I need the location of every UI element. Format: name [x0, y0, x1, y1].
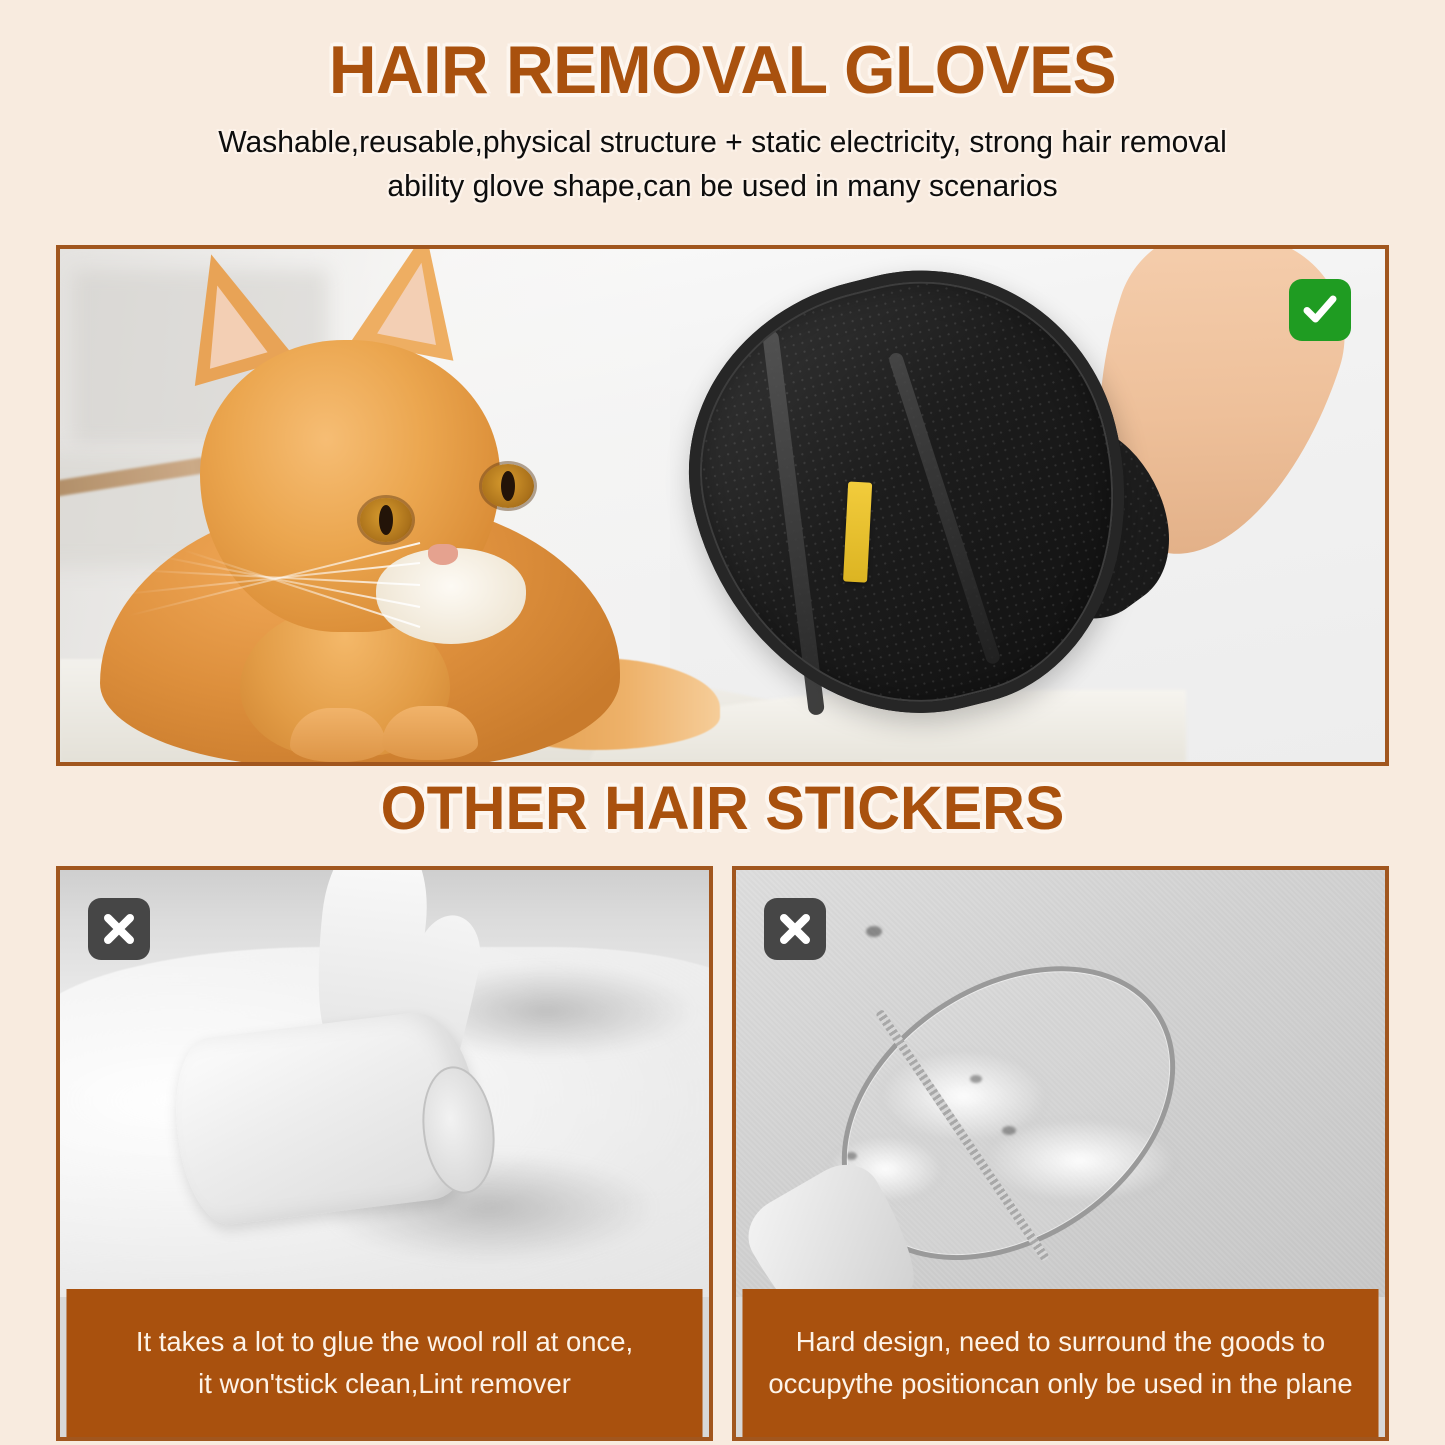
cat-paw-right: [382, 706, 478, 760]
hero-product-panel: [56, 245, 1389, 766]
cross-badge-right: [764, 898, 826, 960]
cross-icon: [776, 910, 814, 948]
glove-rim: [649, 245, 1173, 759]
cat-pupil-left: [379, 505, 393, 535]
cat-paw-left: [290, 708, 386, 762]
cross-badge-left: [88, 898, 150, 960]
check-icon: [1300, 290, 1340, 330]
panel-caption-left: It takes a lot to glue the wool roll at …: [66, 1289, 702, 1437]
cross-icon: [100, 910, 138, 948]
caption-line-2: occupythe positioncan only be used in th…: [768, 1363, 1352, 1405]
panel-caption-right: Hard design, need to surround the goods …: [742, 1289, 1378, 1437]
hero-photo: [60, 249, 1385, 762]
cat-nose: [428, 544, 458, 565]
cat-head: [200, 340, 500, 632]
cat-illustration: [90, 292, 710, 762]
cat-pupil-right: [501, 471, 515, 501]
subtitle-line-1: Washable,reusable,physical structure + s…: [128, 120, 1316, 164]
cat-eye-left: [360, 498, 412, 542]
fabric-shaver-scene: [736, 870, 1385, 1297]
section-title: OTHER HAIR STICKERS: [22, 778, 1424, 839]
infographic-page: HAIR REMOVAL GLOVES Washable,reusable,ph…: [0, 0, 1445, 1445]
lint-roller-photo: [60, 870, 709, 1297]
header: HAIR REMOVAL GLOVES Washable,reusable,ph…: [0, 0, 1445, 208]
comparison-panel-fabric-shaver: Hard design, need to surround the goods …: [732, 866, 1389, 1441]
debris-dot-1: [866, 926, 882, 937]
comparison-panel-lint-roller: It takes a lot to glue the wool roll at …: [56, 866, 713, 1441]
page-subtitle: Washable,reusable,physical structure + s…: [22, 120, 1424, 208]
cat-eye-right: [482, 464, 534, 508]
hair-removal-glove: [649, 245, 1173, 759]
page-title: HAIR REMOVAL GLOVES: [22, 36, 1424, 104]
caption-line-1: It takes a lot to glue the wool roll at …: [136, 1321, 633, 1363]
subtitle-line-2: ability glove shape,can be used in many …: [128, 164, 1316, 208]
caption-line-2: it won'tstick clean,Lint remover: [136, 1363, 633, 1405]
caption-line-1: Hard design, need to surround the goods …: [768, 1321, 1352, 1363]
lint-roller-scene: [60, 870, 709, 1297]
fabric-shaver-photo: [736, 870, 1385, 1297]
check-badge: [1289, 279, 1351, 341]
